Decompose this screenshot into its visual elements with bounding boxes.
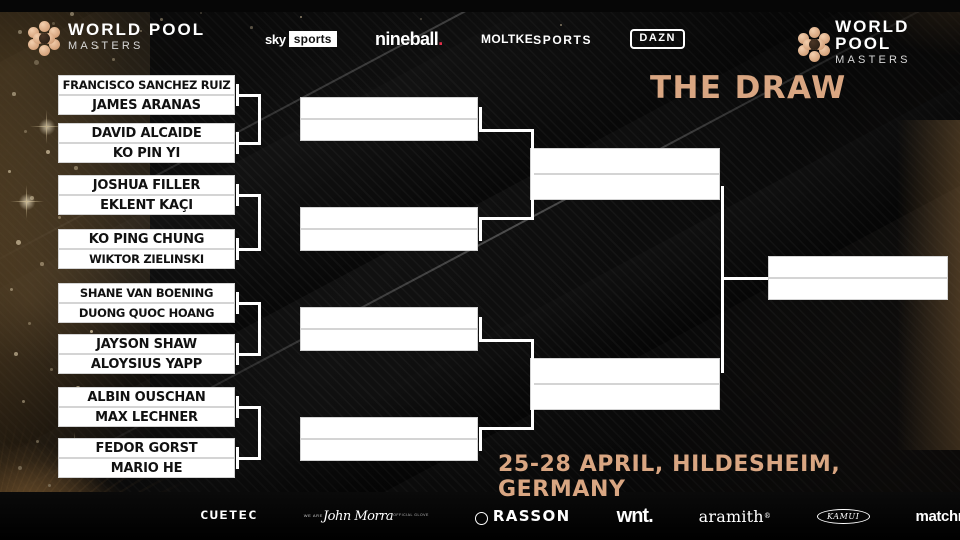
logo-title-right: WORLD POOL bbox=[835, 18, 960, 52]
bracket-slot-round1: DAVID ALCAIDE bbox=[58, 123, 235, 143]
bracket-slot-round4 bbox=[768, 256, 948, 278]
event-info: 25-28 APRIL, HILDESHEIM, GERMANY bbox=[498, 452, 960, 502]
pool-ball-center bbox=[809, 39, 820, 50]
bracket-slot-round1: JOSHUA FILLER bbox=[58, 175, 235, 195]
bracket-connector-horizontal bbox=[479, 129, 531, 132]
bracket-connector-horizontal bbox=[721, 277, 768, 280]
sky-sports-word-sports: sports bbox=[289, 31, 337, 47]
bracket-connector-vertical bbox=[258, 194, 261, 251]
bracket-slot-round3 bbox=[530, 148, 720, 174]
moltke-sports-word: SPORTS bbox=[533, 34, 592, 46]
bracket-slot-round4 bbox=[768, 278, 948, 300]
nineball-dot: . bbox=[438, 29, 442, 50]
bracket-connector-vertical bbox=[258, 406, 261, 460]
bracket-slot-round2 bbox=[300, 307, 478, 329]
bracket-slot-round1: ALBIN OUSCHAN bbox=[58, 387, 235, 407]
aramith-word: aramith bbox=[699, 507, 764, 526]
bracket-connector-horizontal bbox=[236, 353, 258, 356]
wnt-logo: wnt. bbox=[617, 505, 653, 528]
bracket-slot-round2 bbox=[300, 329, 478, 351]
pool-ball-center bbox=[39, 33, 50, 44]
script-signature: John Morra bbox=[323, 510, 393, 523]
logo-world-pool-masters-left: WORLD POOL MASTERS bbox=[28, 18, 205, 54]
rasson-word: RASSON bbox=[493, 507, 571, 525]
kamui-logo: KAMUI bbox=[817, 509, 870, 524]
pool-ball bbox=[39, 21, 50, 32]
pool-ball-diamond-icon bbox=[28, 18, 60, 54]
bracket-slot-round1: ALOYSIUS YAPP bbox=[58, 354, 235, 374]
logo-subtitle-left: MASTERS bbox=[68, 41, 205, 52]
pool-ball bbox=[809, 51, 820, 62]
dazn-line2: ZN bbox=[658, 33, 676, 45]
bracket-slot-round1: EKLENT KAÇI bbox=[58, 195, 235, 215]
bracket-slot-round1: KO PIN YI bbox=[58, 143, 235, 163]
bracket-connector-horizontal bbox=[479, 427, 531, 430]
bracket-slot-round2 bbox=[300, 229, 478, 251]
bracket-connector-vertical bbox=[258, 302, 261, 356]
bracket-slot-round1: FEDOR GORST bbox=[58, 438, 235, 458]
sky-sports-word-sky: sky bbox=[265, 32, 286, 47]
bracket-connector-horizontal bbox=[236, 302, 258, 305]
bracket-slot-round3 bbox=[530, 358, 720, 384]
bracket-slot-round1: JAMES ARANAS bbox=[58, 95, 235, 115]
bracket-connector-vertical bbox=[479, 107, 482, 131]
bracket-connector-vertical bbox=[258, 94, 261, 145]
logo-title-left: WORLD POOL bbox=[68, 21, 205, 38]
bracket-connector-horizontal bbox=[236, 194, 258, 197]
bracket-connector-vertical bbox=[531, 339, 534, 430]
bracket-connector-horizontal bbox=[236, 142, 258, 145]
bracket-slot-round1: FRANCISCO SANCHEZ RUIZ bbox=[58, 75, 235, 95]
pool-ball bbox=[809, 27, 820, 38]
script-top-text: WE ARE bbox=[304, 514, 323, 518]
bracket-slot-round3 bbox=[530, 174, 720, 200]
bracket-connector-horizontal bbox=[236, 406, 258, 409]
page-title: THE DRAW bbox=[650, 70, 847, 106]
aramith-logo: aramith® bbox=[699, 507, 771, 526]
pool-ball bbox=[39, 45, 50, 56]
bracket-connector-vertical bbox=[479, 217, 482, 241]
bracket-slot-round2 bbox=[300, 439, 478, 461]
script-bottom-text: OFFICIAL GLOVE bbox=[393, 514, 429, 518]
aramith-registered-icon: ® bbox=[764, 512, 771, 520]
bracket-connector-horizontal bbox=[236, 94, 258, 97]
bracket-connector-horizontal bbox=[479, 339, 531, 342]
top-sponsor-row: sky sports nineball. MOLTKE SPORTS DA ZN bbox=[265, 22, 685, 56]
bracket-slot-round2 bbox=[300, 97, 478, 119]
bracket-slot-round2 bbox=[300, 119, 478, 141]
bracket-slot-round2 bbox=[300, 207, 478, 229]
logo-world-pool-masters-right: WORLD POOL MASTERS bbox=[798, 18, 960, 66]
bracket-slot-round1: KO PING CHUNG bbox=[58, 229, 235, 249]
bracket-connector-horizontal bbox=[236, 457, 258, 460]
sky-sports-logo: sky sports bbox=[265, 31, 337, 47]
bottom-sponsor-row: CUETEC WE ARE John Morra OFFICIAL GLOVE … bbox=[200, 496, 960, 536]
bracket-connector-vertical bbox=[531, 129, 534, 220]
bracket-connector-vertical bbox=[479, 427, 482, 451]
rasson-logo: RASSON bbox=[475, 507, 571, 525]
bracket-slot-round1: MAX LECHNER bbox=[58, 407, 235, 427]
bracket-slot-round1: MARIO HE bbox=[58, 458, 235, 478]
pool-ball-diamond-icon bbox=[798, 24, 827, 60]
dazn-logo: DA ZN bbox=[630, 29, 685, 49]
bracket-connector-horizontal bbox=[479, 217, 531, 220]
nineball-logo: nineball. bbox=[375, 29, 443, 50]
cuetec-logo: CUETEC bbox=[200, 510, 258, 523]
bracket-slot-round1: DUONG QUOC HOANG bbox=[58, 303, 235, 323]
moltke-word: MOLTKE bbox=[481, 33, 533, 45]
bracket-slot-round2 bbox=[300, 417, 478, 439]
bracket-slot-round1: WIKTOR ZIELINSKI bbox=[58, 249, 235, 269]
dazn-line1: DA bbox=[639, 33, 658, 45]
predator-script-logo: WE ARE John Morra OFFICIAL GLOVE bbox=[304, 510, 429, 523]
bracket-slot-round1: SHANE VAN BOENING bbox=[58, 283, 235, 303]
logo-subtitle-right: MASTERS bbox=[835, 55, 960, 66]
bracket-slot-round3 bbox=[530, 384, 720, 410]
bracket-slot-round1: JAYSON SHAW bbox=[58, 334, 235, 354]
moltke-sports-logo: MOLTKE SPORTS bbox=[481, 33, 592, 46]
bracket-connector-horizontal bbox=[236, 248, 258, 251]
matchroom-logo: matchroom. bbox=[916, 508, 960, 525]
tournament-draw-graphic: WORLD POOL MASTERS WORLD POOL MASTERS sk… bbox=[0, 0, 960, 540]
bracket-connector-vertical bbox=[479, 317, 482, 341]
rasson-mark-icon bbox=[475, 512, 488, 525]
nineball-word: nineball bbox=[375, 29, 438, 50]
